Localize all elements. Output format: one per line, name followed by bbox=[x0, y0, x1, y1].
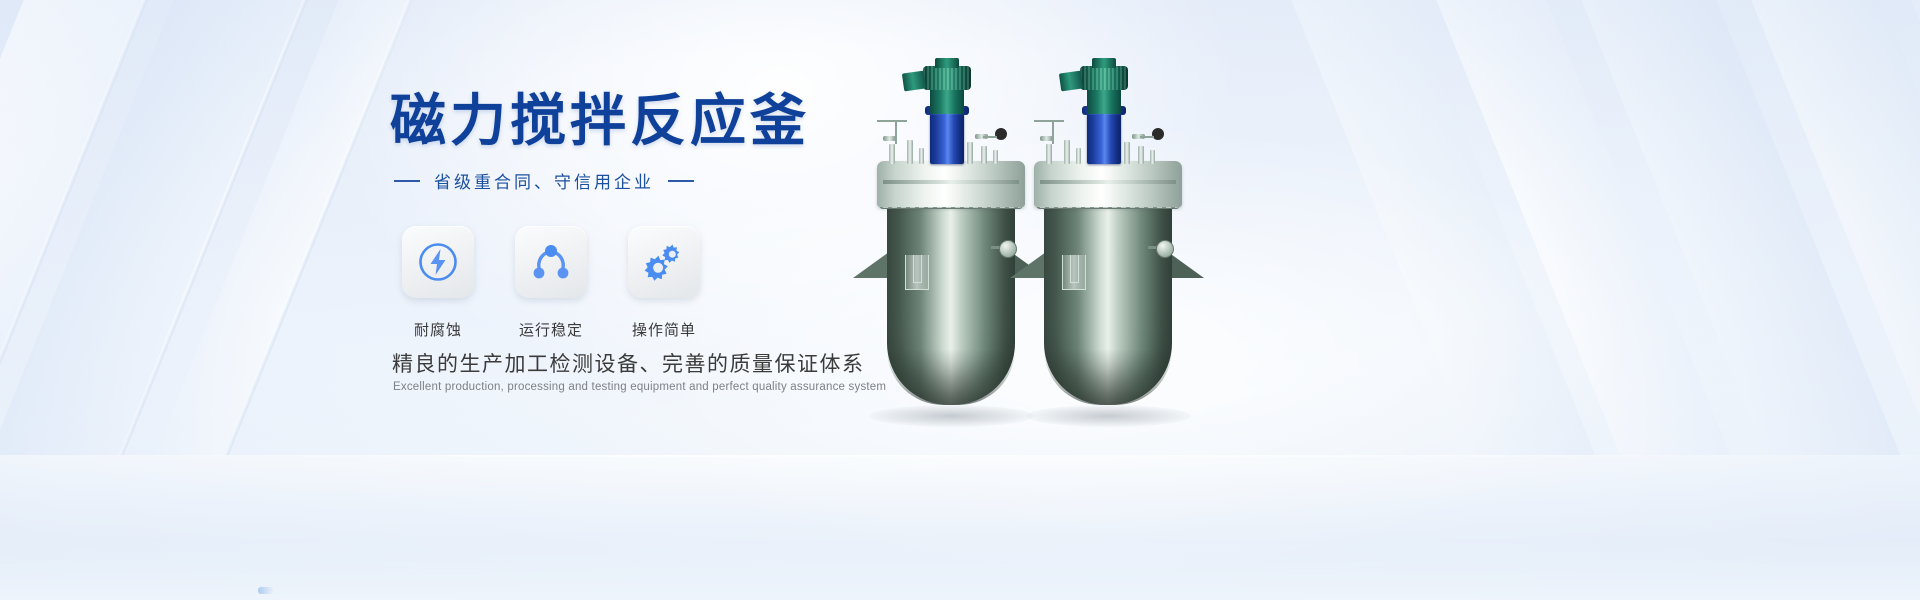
reactor-shadow bbox=[869, 405, 1034, 427]
reactor-support-leg-right bbox=[1168, 252, 1204, 278]
gears-icon bbox=[641, 239, 687, 285]
reactor-junction-box bbox=[902, 71, 926, 92]
reactor-nozzle-c bbox=[1076, 148, 1081, 164]
reactor-gearbox bbox=[1087, 88, 1121, 114]
reactor-junction-box bbox=[1059, 71, 1083, 92]
reactor-probe-stem bbox=[1052, 120, 1054, 144]
feature-item-simple-operation: 操作简单 bbox=[628, 226, 700, 340]
reactor-gearbox bbox=[930, 88, 964, 114]
feature-item-stable-operation: 运行稳定 bbox=[515, 226, 587, 340]
reactor-magnetic-coupling bbox=[930, 112, 964, 164]
product-banner: 磁力搅拌反应釜 省级重合同、守信用企业 耐腐蚀 bbox=[0, 0, 1920, 600]
feature-label: 运行稳定 bbox=[519, 319, 583, 340]
reactor-nozzle-d bbox=[967, 142, 973, 164]
reactor-flange-head bbox=[877, 161, 1025, 207]
reactor-nameplate bbox=[1062, 255, 1086, 290]
reactor-motor-terminal-box bbox=[1092, 58, 1116, 68]
reactor-sight-glass bbox=[1152, 128, 1164, 140]
reactor-nozzle-c bbox=[919, 148, 924, 164]
reactor-probe-arm bbox=[877, 120, 907, 122]
banner-content: 磁力搅拌反应釜 省级重合同、守信用企业 耐腐蚀 bbox=[0, 0, 1920, 600]
reactor-sight-glass-arm bbox=[1140, 136, 1154, 138]
dash-right-icon bbox=[668, 180, 694, 182]
reactor-motor-terminal-box bbox=[935, 58, 959, 68]
reactor-nozzle-b bbox=[907, 140, 913, 164]
reactor-nozzle-f bbox=[993, 150, 998, 164]
page-title: 磁力搅拌反应釜 bbox=[390, 92, 810, 152]
reactor-nozzle-f bbox=[1150, 150, 1155, 164]
reactor-flange-head bbox=[1034, 161, 1182, 207]
reactor-nozzle-e bbox=[1138, 146, 1144, 164]
reactor-neck-ring bbox=[1040, 180, 1176, 184]
tagline-english: Excellent production, processing and tes… bbox=[393, 381, 886, 393]
feature-list: 耐腐蚀 运行稳定 bbox=[402, 226, 700, 340]
feature-icon-card bbox=[402, 226, 474, 298]
feature-label: 耐腐蚀 bbox=[414, 319, 462, 340]
banner-subtitle: 省级重合同、守信用企业 bbox=[394, 168, 694, 193]
reactor-motor-fins bbox=[923, 66, 971, 90]
reactor-support-leg-left bbox=[853, 252, 889, 278]
feature-icon-card bbox=[628, 226, 700, 298]
tagline-chinese: 精良的生产加工检测设备、完善的质量保证体系 bbox=[392, 348, 865, 378]
reactor-probe-stem bbox=[895, 120, 897, 144]
network-nodes-icon bbox=[529, 240, 573, 284]
reactor-nozzle-a bbox=[889, 144, 895, 164]
banner-subtitle-text: 省级重合同、守信用企业 bbox=[434, 168, 654, 193]
reactor-neck-ring bbox=[883, 180, 1019, 184]
reactor-nameplate bbox=[905, 255, 929, 290]
reactor-motor-fins bbox=[1080, 66, 1128, 90]
bottom-fade-overlay bbox=[0, 540, 1920, 600]
reactor-support-leg-left bbox=[1010, 252, 1046, 278]
reactor-sight-glass-arm bbox=[983, 136, 997, 138]
reactor-vessel-body bbox=[887, 200, 1015, 405]
reactor-shadow bbox=[1026, 405, 1191, 427]
reactor-probe-arm bbox=[1034, 120, 1064, 122]
lightning-bolt-icon bbox=[416, 240, 460, 284]
reactor-pressure-gauge bbox=[1156, 240, 1174, 258]
reactor-nozzle-b bbox=[1064, 140, 1070, 164]
feature-icon-card bbox=[515, 226, 587, 298]
reactor-nozzle-e bbox=[981, 146, 987, 164]
magnetic-stirring-reactor-right bbox=[1012, 70, 1202, 430]
reactor-magnetic-coupling bbox=[1087, 112, 1121, 164]
floor-highlight-mark bbox=[258, 587, 274, 594]
reactor-nozzle-a bbox=[1046, 144, 1052, 164]
reactor-sight-glass bbox=[995, 128, 1007, 140]
feature-item-corrosion-resistant: 耐腐蚀 bbox=[402, 226, 474, 340]
reactor-vessel-body bbox=[1044, 200, 1172, 405]
feature-label: 操作简单 bbox=[632, 319, 696, 340]
dash-left-icon bbox=[394, 180, 420, 182]
reactor-nozzle-d bbox=[1124, 142, 1130, 164]
